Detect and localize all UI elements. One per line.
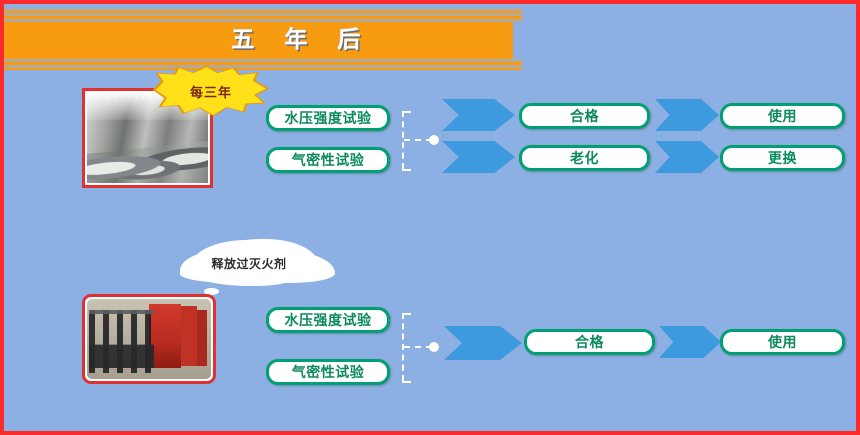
header-banner: 五 年 后 — [0, 8, 522, 70]
bottom-action-label-1: 使用 — [768, 332, 797, 352]
bottom-bracket-junction-dot — [429, 342, 439, 352]
bottom-arrow-result-to-action — [659, 326, 721, 358]
bottom-bracket-stem — [404, 346, 432, 348]
top-arrow-result-to-action-1 — [655, 99, 719, 131]
bottom-action-box-1[interactable]: 使用 — [720, 329, 845, 355]
top-result-box-2[interactable]: 老化 — [519, 145, 650, 171]
bottom-test-label-2: 气密性试验 — [292, 362, 365, 382]
top-action-box-2[interactable]: 更换 — [720, 145, 845, 171]
top-bracket-arm-upper — [402, 111, 411, 113]
top-result-label-1: 合格 — [570, 106, 599, 126]
top-arrow-test-to-result-1 — [442, 99, 515, 131]
top-result-box-1[interactable]: 合格 — [519, 103, 650, 129]
bottom-test-box-1[interactable]: 水压强度试验 — [266, 307, 390, 333]
top-action-box-1[interactable]: 使用 — [720, 103, 845, 129]
top-action-label-1: 使用 — [768, 106, 797, 126]
top-bracket-connector — [396, 109, 444, 171]
slide-canvas: 五 年 后 每三年 水压强度试验 气密性试验 合格 老化 使用 更换 — [0, 0, 860, 435]
top-bracket-arm-lower — [402, 169, 411, 171]
bottom-bracket-connector — [396, 311, 444, 383]
cloud-label: 释放过灭火剂 — [190, 240, 308, 286]
top-arrow-test-to-result-2 — [442, 141, 515, 173]
top-arrow-result-to-action-2 — [655, 141, 719, 173]
bottom-test-box-2[interactable]: 气密性试验 — [266, 359, 390, 385]
top-test-label-1: 水压强度试验 — [285, 108, 372, 128]
photo-image-room — [87, 299, 211, 379]
top-bracket-junction-dot — [429, 135, 439, 145]
top-action-label-2: 更换 — [768, 148, 797, 168]
top-test-box-2[interactable]: 气密性试验 — [266, 147, 390, 173]
bottom-arrow-test-to-result — [444, 326, 522, 360]
top-test-box-1[interactable]: 水压强度试验 — [266, 105, 390, 131]
top-bracket-stem — [404, 139, 432, 141]
photo-fire-suppression-cylinder-room — [82, 294, 216, 384]
starburst-badge-every-three-years: 每三年 — [156, 67, 266, 115]
bottom-test-label-1: 水压强度试验 — [285, 310, 372, 330]
top-result-label-2: 老化 — [570, 148, 599, 168]
bottom-bracket-arm-upper — [402, 313, 411, 315]
page-title: 五 年 后 — [0, 22, 513, 59]
bottom-result-box-1[interactable]: 合格 — [524, 329, 655, 355]
bottom-bracket-arm-lower — [402, 381, 411, 383]
thought-bubble-released-agent: 释放过灭火剂 — [190, 240, 308, 286]
bottom-result-label-1: 合格 — [575, 332, 604, 352]
starburst-label: 每三年 — [156, 67, 266, 115]
top-test-label-2: 气密性试验 — [292, 150, 365, 170]
